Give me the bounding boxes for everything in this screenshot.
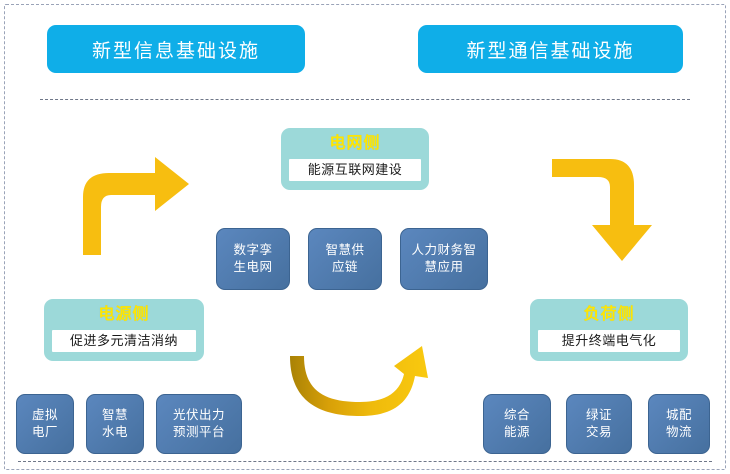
- card-grid-side-title: 电网侧: [289, 133, 421, 155]
- item-line-1: 智慧供: [325, 242, 364, 259]
- item-integrated-energy[interactable]: 综合 能源: [483, 394, 551, 454]
- card-source-side-title: 电源侧: [52, 304, 196, 326]
- item-line-1: 虚拟: [32, 407, 58, 424]
- item-pv-output-forecast-platform[interactable]: 光伏出力 预测平台: [156, 394, 242, 454]
- card-grid-side-subtitle: 能源互联网建设: [289, 159, 421, 181]
- item-line-2: 生电网: [233, 259, 272, 276]
- item-line-2: 水电: [102, 424, 128, 441]
- item-line-2: 预测平台: [173, 424, 225, 441]
- item-line-1: 智慧: [102, 407, 128, 424]
- item-line-2: 交易: [586, 424, 612, 441]
- item-line-1: 光伏出力: [173, 407, 225, 424]
- card-grid-side[interactable]: 电网侧 能源互联网建设: [281, 128, 429, 190]
- header-button-label: 新型通信基础设施: [466, 36, 634, 63]
- card-source-side[interactable]: 电源侧 促进多元清洁消纳: [44, 299, 204, 361]
- item-line-2: 电厂: [32, 424, 58, 441]
- item-urban-distribution-logistics[interactable]: 城配 物流: [648, 394, 710, 454]
- up-right-elbow-arrow: [75, 155, 195, 267]
- item-green-certificate-trading[interactable]: 绿证 交易: [566, 394, 632, 454]
- diagram-canvas: 新型信息基础设施 新型通信基础设施 电网侧 能源互联网建设 电源侧 促进多元清洁…: [0, 0, 730, 474]
- item-line-1: 城配: [666, 407, 692, 424]
- item-digital-twin-grid[interactable]: 数字孪 生电网: [216, 228, 290, 290]
- separator-top: [40, 99, 690, 100]
- item-line-2: 应链: [325, 259, 364, 276]
- header-button-communication-infrastructure[interactable]: 新型通信基础设施: [418, 25, 683, 73]
- card-load-side-title: 负荷侧: [538, 304, 680, 326]
- item-line-1: 数字孪: [233, 242, 272, 259]
- card-load-side-subtitle: 提升终端电气化: [538, 330, 680, 352]
- item-hr-finance-smart-application[interactable]: 人力财务智 慧应用: [400, 228, 488, 290]
- u-curve-arrow: [282, 344, 446, 420]
- header-button-information-infrastructure[interactable]: 新型信息基础设施: [47, 25, 305, 73]
- item-virtual-power-plant[interactable]: 虚拟 电厂: [16, 394, 74, 454]
- separator-bottom: [18, 461, 712, 462]
- item-line-1: 绿证: [586, 407, 612, 424]
- item-line-2: 能源: [504, 424, 530, 441]
- item-line-2: 慧应用: [411, 259, 476, 276]
- header-button-label: 新型信息基础设施: [92, 36, 260, 63]
- item-smart-hydropower[interactable]: 智慧 水电: [86, 394, 144, 454]
- item-line-1: 人力财务智: [411, 242, 476, 259]
- item-smart-supply-chain[interactable]: 智慧供 应链: [308, 228, 382, 290]
- card-source-side-subtitle: 促进多元清洁消纳: [52, 330, 196, 352]
- card-load-side[interactable]: 负荷侧 提升终端电气化: [530, 299, 688, 361]
- item-line-2: 物流: [666, 424, 692, 441]
- right-down-elbow-arrow: [552, 155, 674, 267]
- item-line-1: 综合: [504, 407, 530, 424]
